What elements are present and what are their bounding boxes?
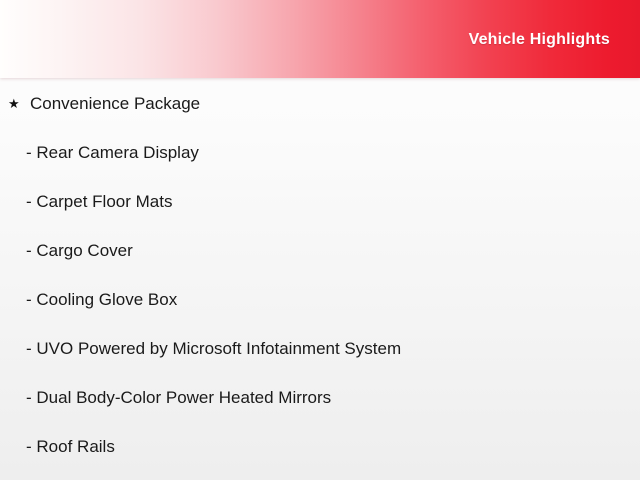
feature-item-label: UVO Powered by Microsoft Infotainment Sy… bbox=[36, 339, 401, 358]
dash-bullet-icon: - bbox=[26, 241, 32, 260]
dash-bullet-icon: - bbox=[26, 339, 32, 358]
dash-bullet-icon: - bbox=[26, 290, 32, 309]
dash-bullet-icon: - bbox=[26, 388, 32, 407]
feature-list-item: - Cargo Cover bbox=[0, 239, 640, 288]
feature-list-item: ★Convenience Package bbox=[0, 92, 640, 141]
feature-list-item: - UVO Powered by Microsoft Infotainment … bbox=[0, 337, 640, 386]
feature-item-label: Cooling Glove Box bbox=[36, 290, 177, 309]
dash-bullet-icon: - bbox=[26, 143, 32, 162]
feature-list-item: - Cooling Glove Box bbox=[0, 288, 640, 337]
vehicle-highlights-slide: Vehicle Highlights ★Convenience Package-… bbox=[0, 0, 640, 480]
header-banner: Vehicle Highlights bbox=[0, 0, 640, 78]
feature-list-item: - Rear Camera Display bbox=[0, 141, 640, 190]
feature-item-label: Carpet Floor Mats bbox=[36, 192, 172, 211]
feature-list-item: - Roof Rails bbox=[0, 435, 640, 480]
feature-list-item: - Dual Body-Color Power Heated Mirrors bbox=[0, 386, 640, 435]
feature-item-label: Rear Camera Display bbox=[36, 143, 199, 162]
feature-item-label: Cargo Cover bbox=[36, 241, 132, 260]
feature-item-label: Convenience Package bbox=[30, 94, 200, 113]
dash-bullet-icon: - bbox=[26, 192, 32, 211]
star-bullet-icon: ★ bbox=[8, 92, 20, 116]
feature-list-item: - Carpet Floor Mats bbox=[0, 190, 640, 239]
feature-list: ★Convenience Package- Rear Camera Displa… bbox=[0, 92, 640, 480]
feature-item-label: Roof Rails bbox=[36, 437, 114, 456]
page-title: Vehicle Highlights bbox=[469, 30, 610, 50]
dash-bullet-icon: - bbox=[26, 437, 32, 456]
feature-item-label: Dual Body-Color Power Heated Mirrors bbox=[36, 388, 331, 407]
